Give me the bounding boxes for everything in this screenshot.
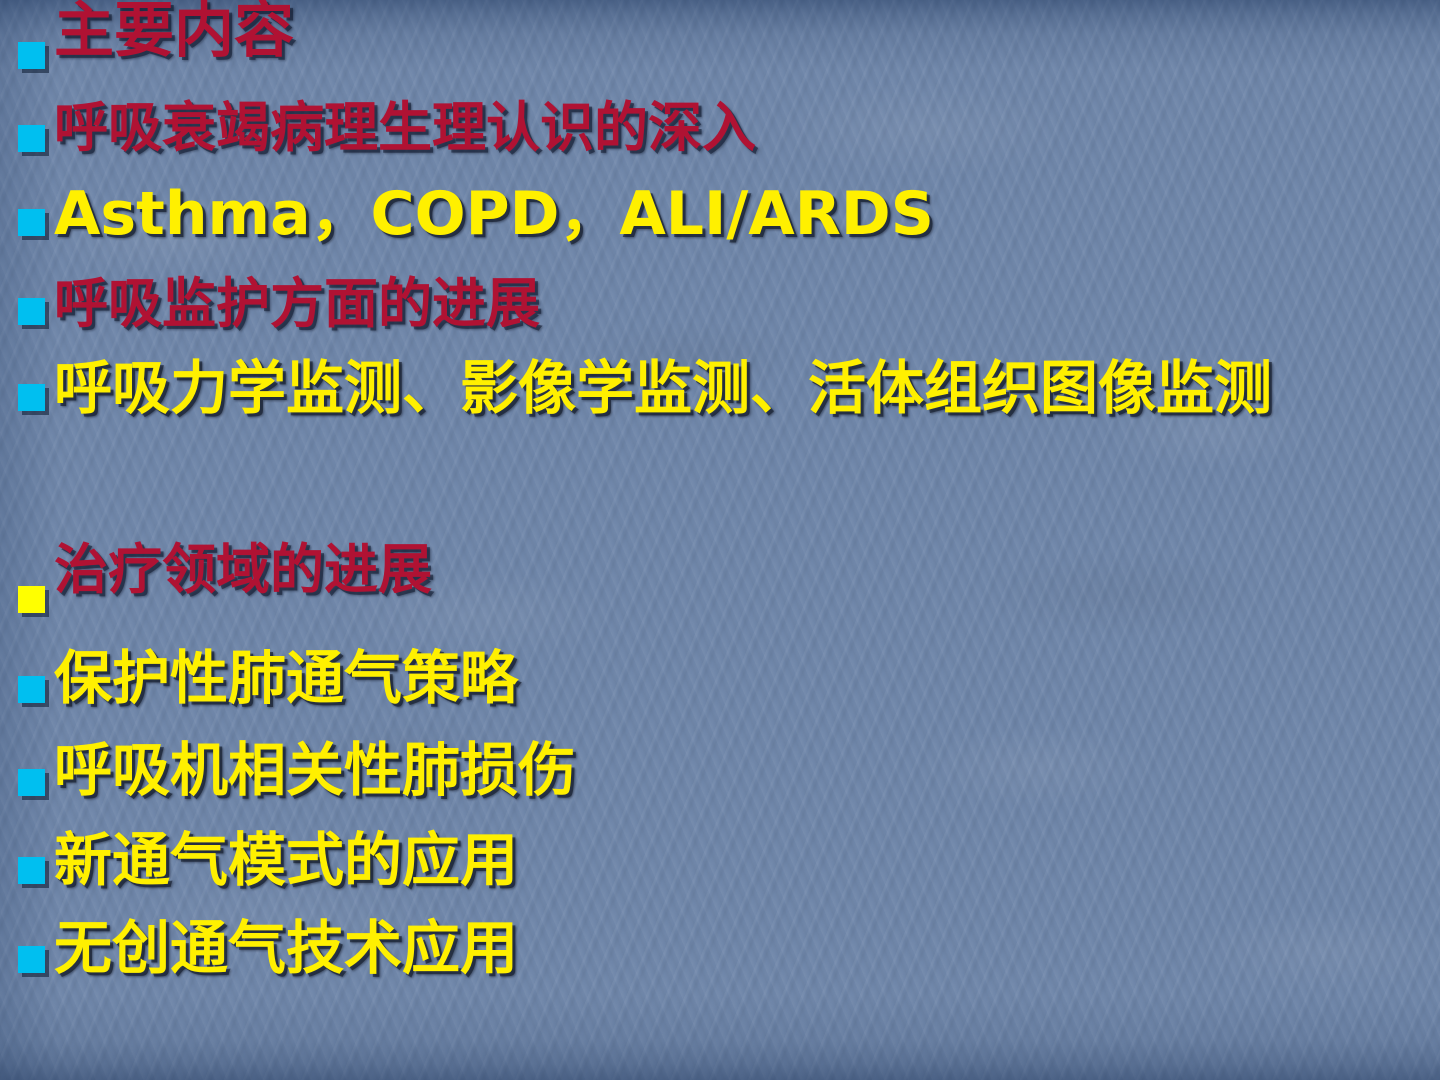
presentation-slide: 主要内容呼吸衰竭病理生理认识的深入Asthma，COPD，ALI/ARDS呼吸监…	[0, 0, 1440, 1080]
square-bullet-cyan-icon	[18, 125, 45, 152]
list-item[interactable]: 呼吸监护方面的进展	[0, 276, 1440, 358]
square-bullet-cyan-icon	[18, 384, 45, 411]
list-item-label: 主要内容	[54, 0, 1434, 62]
list-item-label: 呼吸力学监测、影像学监测、活体组织图像监测	[54, 358, 1434, 418]
square-bullet-cyan-icon	[18, 42, 45, 69]
square-bullet-yellow-icon	[18, 586, 45, 613]
list-item[interactable]: 呼吸衰竭病理生理认识的深入	[0, 100, 1440, 183]
list-item[interactable]: Asthma，COPD，ALI/ARDS	[0, 183, 1440, 276]
list-item[interactable]: 主要内容	[0, 0, 1440, 100]
list-item[interactable]: 保护性肺通气策略	[0, 648, 1440, 740]
list-item[interactable]: 新通气模式的应用	[0, 830, 1440, 918]
list-item[interactable]: 呼吸力学监测、影像学监测、活体组织图像监测	[0, 358, 1440, 542]
list-item-label: 治疗领域的进展	[54, 542, 1434, 598]
square-bullet-cyan-icon	[18, 857, 45, 884]
list-item[interactable]: 呼吸机相关性肺损伤	[0, 740, 1440, 830]
list-item-label: 无创通气技术应用	[54, 918, 1434, 978]
list-item-label: 呼吸监护方面的进展	[54, 276, 1434, 332]
list-item-label: 新通气模式的应用	[54, 830, 1434, 890]
square-bullet-cyan-icon	[18, 209, 45, 236]
list-item[interactable]: 治疗领域的进展	[0, 542, 1440, 648]
list-item-label: 呼吸衰竭病理生理认识的深入	[54, 100, 1434, 156]
list-item-label: Asthma，COPD，ALI/ARDS	[54, 183, 1434, 245]
list-item-label: 呼吸机相关性肺损伤	[54, 740, 1434, 800]
square-bullet-cyan-icon	[18, 769, 45, 796]
square-bullet-cyan-icon	[18, 298, 45, 325]
list-item[interactable]: 无创通气技术应用	[0, 918, 1440, 1010]
square-bullet-cyan-icon	[18, 946, 45, 973]
square-bullet-cyan-icon	[18, 676, 45, 703]
list-item-label: 保护性肺通气策略	[54, 648, 1434, 708]
